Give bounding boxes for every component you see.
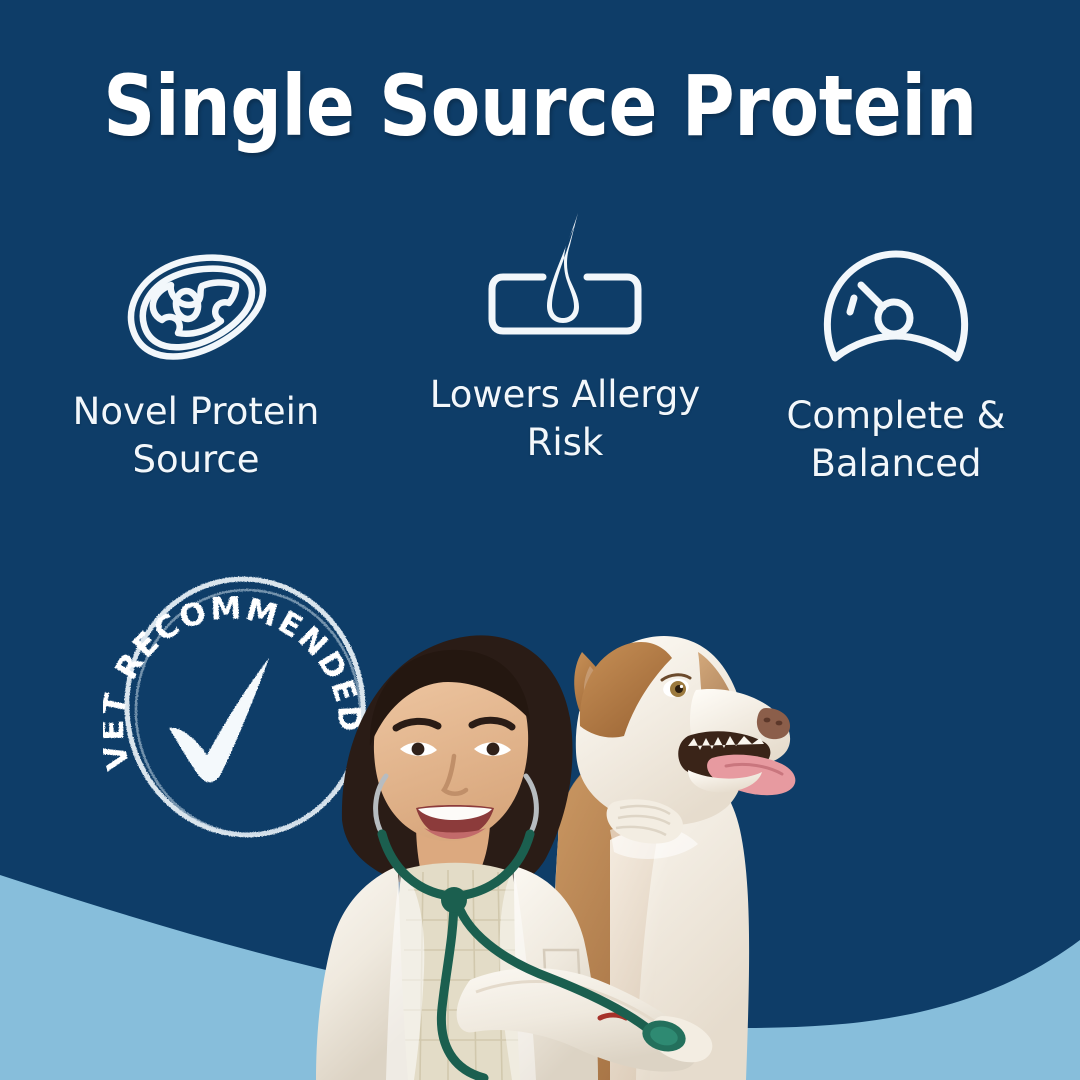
page-title: Single Source Protein <box>76 64 1005 148</box>
feature-lowers-allergy-risk: Lowers Allergy Risk <box>400 200 730 467</box>
veterinarian-with-husky-photo <box>258 540 818 1080</box>
promo-card: Single Source Protein Novel Protein Sour… <box>0 0 1080 1080</box>
gauge-icon <box>821 246 971 378</box>
checkmark-icon <box>169 658 269 782</box>
feature-row: Novel Protein Source Lowers Allergy Risk <box>0 200 1080 520</box>
steak-icon <box>116 248 276 374</box>
feature-label: Lowers Allergy Risk <box>400 371 730 467</box>
hair-follicle-icon <box>482 205 648 353</box>
feature-complete-and-balanced: Complete & Balanced <box>731 200 1061 488</box>
feature-label: Complete & Balanced <box>731 392 1061 488</box>
feature-novel-protein-source: Novel Protein Source <box>31 200 361 484</box>
feature-label: Novel Protein Source <box>31 388 361 484</box>
